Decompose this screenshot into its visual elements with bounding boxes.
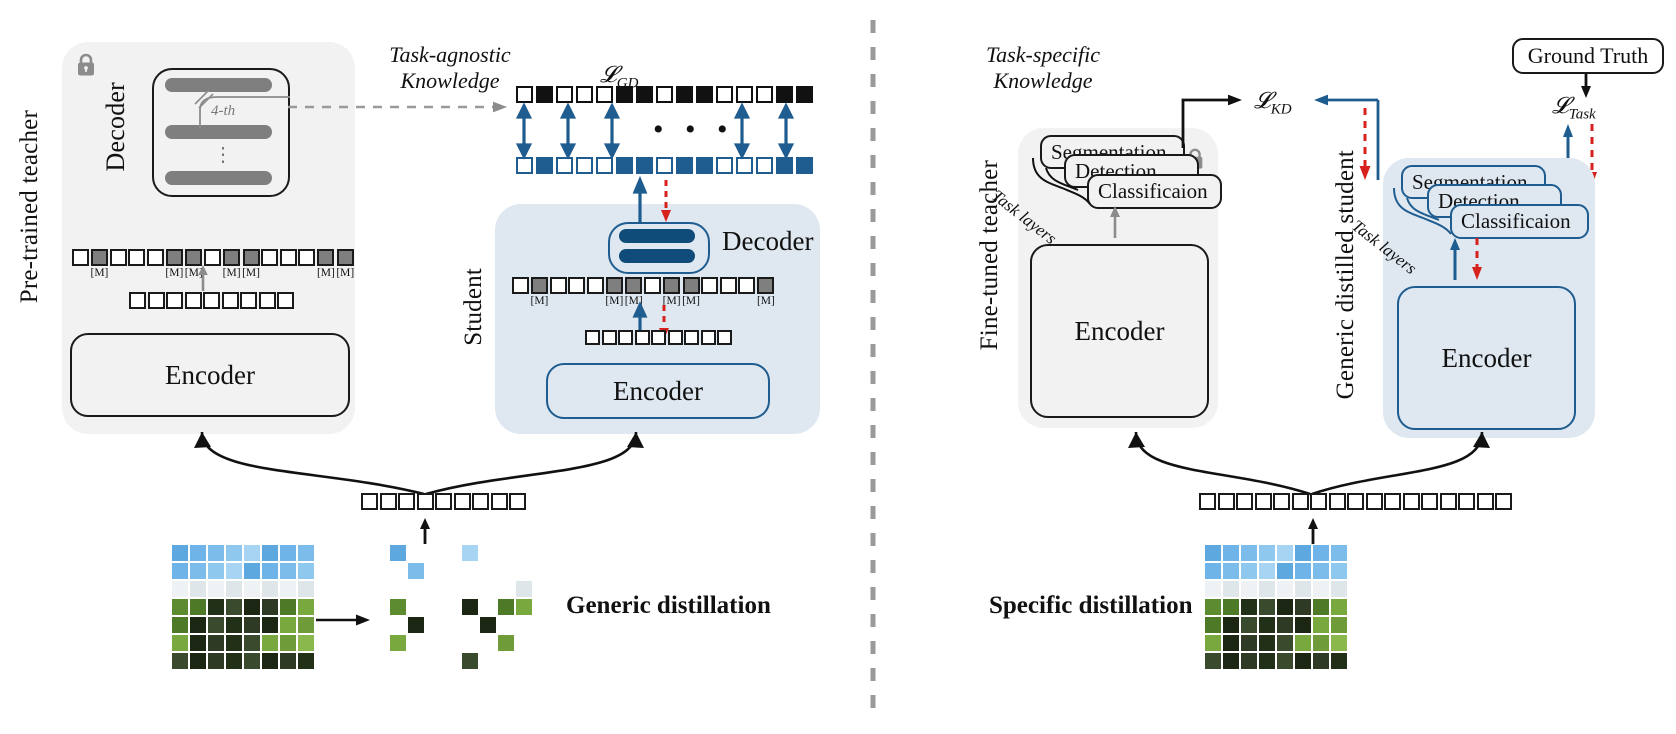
image-patch-visible	[390, 635, 406, 651]
image-patch	[1223, 599, 1239, 615]
token-square	[701, 330, 716, 345]
image-patch	[1295, 653, 1311, 669]
image-patch	[1277, 563, 1293, 579]
prediction-token-filled	[776, 157, 793, 174]
visible-token	[512, 277, 529, 308]
prediction-token-empty	[556, 86, 573, 103]
masked-token: [M]	[242, 249, 260, 280]
student-label: Student	[460, 268, 488, 346]
image-patch-visible	[480, 617, 496, 633]
image-patch	[1277, 599, 1293, 615]
token-square	[1273, 493, 1290, 510]
token-square	[491, 493, 508, 510]
image-patch	[262, 545, 278, 561]
image-patch	[262, 635, 278, 651]
mask-label: [M]	[531, 295, 549, 308]
image-patch	[1295, 635, 1311, 651]
teacher-task-layers-brace	[1028, 158, 1103, 210]
mask-label: [M]	[336, 267, 354, 280]
visible-token	[587, 277, 604, 308]
image-patch	[280, 563, 296, 579]
image-patch	[1331, 563, 1347, 579]
image-patch	[1331, 635, 1347, 651]
image-patch	[1223, 653, 1239, 669]
image-patch	[1223, 545, 1239, 561]
teacher-masked-token-row: [M][M][M][M][M][M][M]	[72, 249, 354, 280]
image-patch	[1241, 545, 1257, 561]
visible-token	[110, 249, 127, 280]
image-patch	[1259, 635, 1275, 651]
image-patch	[1205, 617, 1221, 633]
token-square	[166, 292, 183, 309]
prediction-token-filled	[696, 86, 713, 103]
student-encoder-to-tasklayers-arrows	[1448, 238, 1488, 280]
token-square	[512, 277, 529, 294]
prediction-token-filled	[676, 157, 693, 174]
mask-label: [M]	[682, 295, 700, 308]
prediction-token-filled	[696, 157, 713, 174]
image-patch-visible	[498, 599, 514, 615]
token-square	[1199, 493, 1216, 510]
masked-token: [M]	[91, 249, 109, 280]
mask-label: [M]	[223, 267, 241, 280]
token-square	[531, 277, 548, 294]
image-patch	[226, 599, 242, 615]
teacher-decoder-layer-note: 4-th	[211, 103, 235, 120]
token-square	[720, 277, 737, 294]
image-patch	[244, 545, 260, 561]
image-patch	[1313, 635, 1329, 651]
loss-task-symbol: 𝓛	[1552, 93, 1569, 118]
token-square	[625, 277, 642, 294]
student-masked-token-row: [M][M][M][M][M][M]	[512, 277, 775, 308]
image-patch	[1295, 581, 1311, 597]
task-specific-knowledge-line1: Task-specific	[963, 42, 1123, 68]
prediction-token-filled	[676, 86, 693, 103]
image-patch	[1277, 653, 1293, 669]
visible-token	[280, 249, 297, 280]
image-patch	[1313, 581, 1329, 597]
loss-task-label: 𝓛Task	[1552, 93, 1596, 124]
token-square	[240, 292, 257, 309]
image-patch	[172, 599, 188, 615]
image-patch	[208, 563, 224, 579]
student-decoder-io-arrows	[634, 180, 684, 222]
lkd-backprop-arrow	[1358, 108, 1374, 182]
prediction-token-empty	[756, 157, 773, 174]
image-patch	[1295, 599, 1311, 615]
prediction-token-empty	[576, 157, 593, 174]
image-patch-visible	[462, 653, 478, 669]
teacher-patch-token-row	[129, 292, 294, 309]
image-patch	[1259, 581, 1275, 597]
token-square	[668, 330, 683, 345]
token-square	[1495, 493, 1512, 510]
left-masking-arrow	[316, 613, 372, 627]
image-patch	[244, 653, 260, 669]
image-patch	[208, 635, 224, 651]
image-patch	[262, 599, 278, 615]
visible-token	[644, 277, 661, 308]
image-patch	[1223, 617, 1239, 633]
student-task-layer-classification-label: Classificaion	[1461, 209, 1571, 234]
image-patch	[280, 635, 296, 651]
image-patch	[190, 617, 206, 633]
masked-token: [M]	[757, 277, 775, 308]
teacher-embed-arrow	[196, 265, 210, 291]
image-patch	[1313, 599, 1329, 615]
image-patch	[298, 545, 314, 561]
task-agnostic-knowledge-line1: Task-agnostic	[375, 42, 525, 68]
token-square	[222, 292, 239, 309]
right-input-branch-curves	[1110, 432, 1510, 500]
token-square	[72, 249, 89, 266]
masked-token: [M]	[605, 277, 623, 308]
prediction-token-empty	[576, 86, 593, 103]
teacher-decoder-label: Decoder	[101, 82, 131, 171]
token-square	[380, 493, 397, 510]
prediction-token-filled	[796, 157, 813, 174]
image-patch	[280, 599, 296, 615]
token-square	[298, 249, 315, 266]
token-square	[738, 277, 755, 294]
mask-label: [M]	[605, 295, 623, 308]
generic-distillation-caption: Generic distillation	[566, 592, 771, 620]
image-patch	[208, 599, 224, 615]
prediction-token-empty	[736, 157, 753, 174]
task-specific-knowledge-line2: Knowledge	[963, 68, 1123, 94]
image-patch	[1277, 635, 1293, 651]
teacher-task-layer-classification: Classificaion	[1087, 174, 1222, 209]
generic-distilled-student-encoder-box: Encoder	[1397, 286, 1576, 430]
right-input-token-row	[1199, 493, 1512, 510]
token-square	[361, 493, 378, 510]
image-patch-visible	[462, 599, 478, 615]
finetuned-teacher-encoder-box: Encoder	[1030, 244, 1209, 418]
student-decoder-label: Decoder	[722, 226, 813, 257]
image-patch	[298, 599, 314, 615]
token-square	[1329, 493, 1346, 510]
prediction-token-empty	[596, 86, 613, 103]
token-square	[203, 292, 220, 309]
prediction-token-empty	[656, 86, 673, 103]
image-patch	[262, 653, 278, 669]
image-patch	[1295, 545, 1311, 561]
image-patch	[298, 581, 314, 597]
token-square	[223, 249, 240, 266]
token-square	[1255, 493, 1272, 510]
mask-label: [M]	[91, 267, 109, 280]
image-patch	[1259, 563, 1275, 579]
specific-distillation-caption: Specific distillation	[989, 592, 1192, 620]
image-patch	[280, 617, 296, 633]
image-patch	[1331, 545, 1347, 561]
image-patch	[1259, 617, 1275, 633]
left-input-arrow	[418, 518, 432, 544]
image-patch	[226, 563, 242, 579]
image-patch	[1277, 545, 1293, 561]
prediction-token-empty	[756, 86, 773, 103]
image-patch	[190, 545, 206, 561]
token-square	[757, 277, 774, 294]
image-patch	[226, 653, 242, 669]
image-patch	[298, 617, 314, 633]
image-patch	[244, 599, 260, 615]
image-patch	[226, 581, 242, 597]
image-patch	[1223, 635, 1239, 651]
student-prediction-token-row	[516, 157, 813, 174]
task-specific-knowledge-label: Task-specific Knowledge	[963, 42, 1123, 94]
prediction-token-empty	[736, 86, 753, 103]
image-patch	[1277, 617, 1293, 633]
image-patch	[1313, 617, 1329, 633]
image-patch	[244, 617, 260, 633]
image-patch	[262, 563, 278, 579]
image-patch	[1241, 617, 1257, 633]
image-patch	[226, 635, 242, 651]
finetuned-teacher-encoder-label: Encoder	[1075, 316, 1165, 347]
student-decoder-layer-2	[619, 249, 695, 263]
token-square	[1310, 493, 1327, 510]
image-patch	[298, 635, 314, 651]
visible-token	[147, 249, 164, 280]
token-square	[259, 292, 276, 309]
image-patch	[1241, 635, 1257, 651]
image-patch	[1205, 653, 1221, 669]
image-patch	[172, 617, 188, 633]
image-patch	[208, 545, 224, 561]
image-patch-visible	[390, 545, 406, 561]
image-patch-visible	[390, 599, 406, 615]
token-square	[618, 330, 633, 345]
prediction-token-empty	[716, 157, 733, 174]
image-patch	[190, 653, 206, 669]
token-square	[398, 493, 415, 510]
prediction-token-filled	[536, 157, 553, 174]
token-square	[317, 249, 334, 266]
token-square	[147, 249, 164, 266]
prediction-token-empty	[556, 157, 573, 174]
prediction-token-filled	[636, 157, 653, 174]
image-patch	[1259, 545, 1275, 561]
image-patch	[1313, 545, 1329, 561]
token-square	[110, 249, 127, 266]
student-task-layers-brace	[1389, 188, 1464, 240]
visible-token	[261, 249, 278, 280]
token-square	[261, 249, 278, 266]
student-encoder-box: Encoder	[546, 363, 770, 419]
masked-token: [M]	[336, 249, 354, 280]
teacher-decoder-vdots: ⋮	[213, 142, 233, 167]
image-patch	[208, 581, 224, 597]
prediction-token-empty	[516, 157, 533, 174]
image-patch	[1223, 563, 1239, 579]
image-patch-visible	[462, 545, 478, 561]
token-square	[417, 493, 434, 510]
right-source-image-grid	[1205, 545, 1347, 669]
token-square	[684, 330, 699, 345]
token-square	[91, 249, 108, 266]
image-patch	[1295, 617, 1311, 633]
mask-label: [M]	[317, 267, 335, 280]
mask-label: [M]	[242, 267, 260, 280]
token-square	[1440, 493, 1457, 510]
masked-token: [M]	[223, 249, 241, 280]
prediction-token-empty	[596, 157, 613, 174]
pretrained-teacher-label: Pre-trained teacher	[16, 110, 44, 303]
image-patch	[298, 563, 314, 579]
token-square	[454, 493, 471, 510]
ground-truth-label: Ground Truth	[1528, 43, 1648, 69]
token-square	[1292, 493, 1309, 510]
token-square	[128, 249, 145, 266]
teacher-to-lkd-arrow	[1178, 92, 1242, 148]
token-square	[701, 277, 718, 294]
image-patch	[172, 653, 188, 669]
teacher-encoder-to-tasklayers-arrow	[1108, 206, 1122, 238]
image-patch	[208, 617, 224, 633]
image-patch	[172, 581, 188, 597]
left-input-branch-curves	[170, 432, 670, 500]
prediction-token-empty	[516, 86, 533, 103]
token-square	[683, 277, 700, 294]
ground-truth-box: Ground Truth	[1512, 38, 1664, 74]
image-patch	[262, 581, 278, 597]
prediction-token-filled	[536, 86, 553, 103]
task-agnostic-dashed-arrow	[288, 100, 514, 114]
token-square	[651, 330, 666, 345]
image-patch	[1205, 545, 1221, 561]
image-patch	[1241, 563, 1257, 579]
loss-gd-symbol: 𝓛	[600, 62, 617, 87]
teacher-prediction-token-row	[516, 86, 813, 103]
image-patch	[244, 635, 260, 651]
token-square	[1421, 493, 1438, 510]
prediction-token-filled	[616, 86, 633, 103]
visible-token	[568, 277, 585, 308]
image-patch	[1331, 617, 1347, 633]
token-square	[280, 249, 297, 266]
image-patch	[1205, 635, 1221, 651]
student-task-layer-classification: Classificaion	[1450, 204, 1589, 239]
image-patch-visible	[516, 581, 532, 597]
image-patch	[1313, 653, 1329, 669]
mask-label: [M]	[757, 295, 775, 308]
visible-token	[298, 249, 315, 280]
image-patch	[226, 617, 242, 633]
image-patch	[1331, 599, 1347, 615]
image-patch	[280, 653, 296, 669]
teacher-decoder-tap-line	[195, 88, 295, 133]
image-patch-visible	[516, 599, 532, 615]
token-square	[587, 277, 604, 294]
image-patch	[280, 581, 296, 597]
image-patch	[1331, 581, 1347, 597]
image-patch-visible	[408, 563, 424, 579]
token-square	[277, 292, 294, 309]
teacher-task-layer-classification-label: Classificaion	[1098, 179, 1208, 204]
token-square	[243, 249, 260, 266]
token-square	[602, 330, 617, 345]
token-square	[1384, 493, 1401, 510]
image-patch	[280, 545, 296, 561]
image-patch	[1295, 563, 1311, 579]
image-patch	[1205, 563, 1221, 579]
loss-task-subscript: Task	[1569, 107, 1596, 123]
token-square	[435, 493, 452, 510]
prediction-token-filled	[776, 86, 793, 103]
token-square	[644, 277, 661, 294]
image-patch	[190, 599, 206, 615]
visible-token	[701, 277, 718, 308]
token-square	[1366, 493, 1383, 510]
token-square	[337, 249, 354, 266]
image-patch	[1277, 581, 1293, 597]
image-patch	[244, 563, 260, 579]
image-patch	[226, 545, 242, 561]
image-patch	[244, 581, 260, 597]
student-decoder-layer-1	[619, 229, 695, 243]
token-square	[1347, 493, 1364, 510]
teacher-decoder-layer-3	[165, 171, 272, 185]
visible-token	[550, 277, 567, 308]
token-square	[585, 330, 600, 345]
prediction-token-filled	[616, 157, 633, 174]
token-square	[472, 493, 489, 510]
prediction-token-empty	[716, 86, 733, 103]
image-patch	[190, 635, 206, 651]
image-patch	[1241, 581, 1257, 597]
image-patch	[1259, 653, 1275, 669]
loss-kd-label: 𝓛KD	[1254, 88, 1292, 119]
token-square	[1477, 493, 1494, 510]
token-square	[129, 292, 146, 309]
task-agnostic-knowledge-line2: Knowledge	[375, 68, 525, 94]
token-square	[606, 277, 623, 294]
visible-token	[128, 249, 145, 280]
prediction-token-empty	[656, 157, 673, 174]
student-patch-token-row	[585, 330, 732, 345]
panel-divider	[870, 20, 876, 720]
image-patch	[1331, 653, 1347, 669]
token-square	[509, 493, 526, 510]
mask-label: [M]	[165, 267, 183, 280]
image-patch	[1223, 581, 1239, 597]
image-patch	[190, 563, 206, 579]
left-masked-image-grid	[390, 545, 534, 671]
token-square	[204, 249, 221, 266]
token-square	[1458, 493, 1475, 510]
token-square	[635, 330, 650, 345]
right-input-arrow	[1306, 518, 1320, 544]
image-patch	[1205, 599, 1221, 615]
masked-token: [M]	[663, 277, 681, 308]
image-patch-visible	[408, 617, 424, 633]
student-encoder-label: Encoder	[613, 376, 703, 407]
image-patch-visible	[498, 635, 514, 651]
left-input-token-row	[361, 493, 526, 510]
image-patch	[172, 545, 188, 561]
image-patch	[172, 635, 188, 651]
token-square	[148, 292, 165, 309]
teacher-encoder-box: Encoder	[70, 333, 350, 417]
token-square	[1403, 493, 1420, 510]
visible-token	[72, 249, 89, 280]
token-square	[166, 249, 183, 266]
generic-distilled-student-label: Generic distilled student	[1332, 150, 1360, 399]
token-square	[1236, 493, 1253, 510]
prediction-token-filled	[636, 86, 653, 103]
